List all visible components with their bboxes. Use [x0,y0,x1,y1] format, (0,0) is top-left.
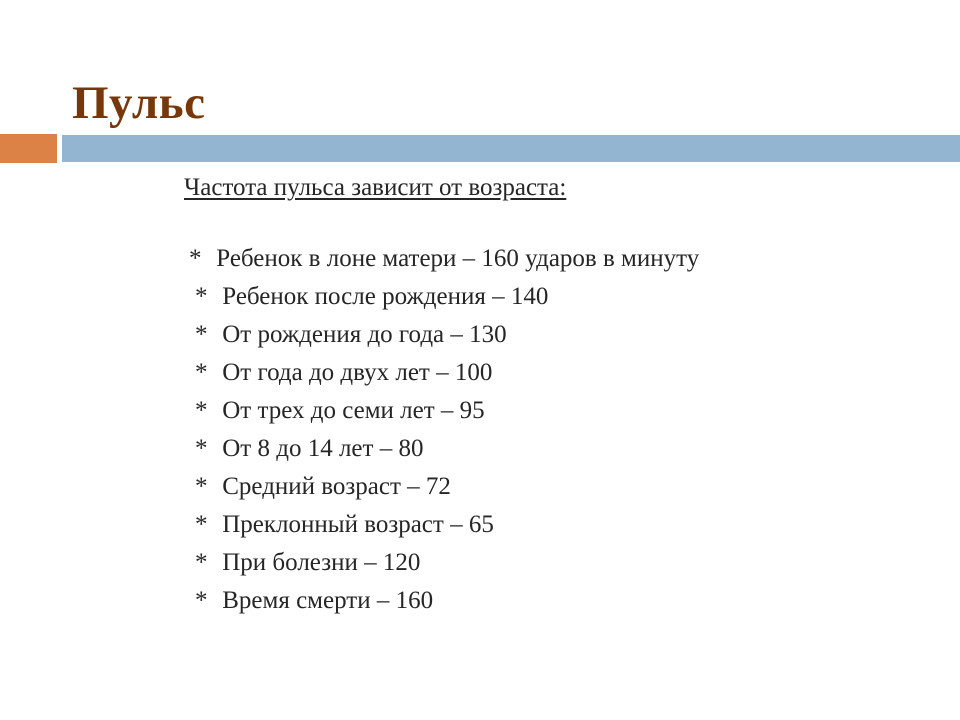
list-item: * При болезни – 120 [0,544,960,582]
bullet-star-icon: * [195,354,208,392]
heading-list-spacer [0,206,960,240]
body-heading: Частота пульса зависит от возраста: [184,170,960,206]
list-item-label: Ребенок в лоне матери – 160 ударов в мин… [216,240,699,278]
accent-rule-decoration [62,135,960,162]
list-item: * От 8 до 14 лет – 80 [0,430,960,468]
list-item: * Средний возраст – 72 [0,468,960,506]
list-item: * От трех до семи лет – 95 [0,392,960,430]
list-item-label: От трех до семи лет – 95 [222,392,484,430]
list-item-label: Средний возраст – 72 [222,468,451,506]
list-item: * Преклонный возраст – 65 [0,506,960,544]
bullet-star-icon: * [195,582,208,620]
list-item-label: От года до двух лет – 100 [222,354,492,392]
slide-canvas: Пульс Частота пульса зависит от возраста… [0,0,960,720]
accent-square-decoration [0,134,57,163]
bullet-star-icon: * [195,316,208,354]
list-item: * Время смерти – 160 [0,582,960,620]
list-item: * Ребенок после рождения – 140 [0,278,960,316]
bullet-star-icon: * [195,430,208,468]
list-item: * Ребенок в лоне матери – 160 ударов в м… [0,240,960,278]
title-divider [0,134,960,163]
list-item-label: От 8 до 14 лет – 80 [222,430,423,468]
list-item-label: Время смерти – 160 [222,582,433,620]
list-item: * От рождения до года – 130 [0,316,960,354]
bullet-star-icon: * [195,468,208,506]
list-item-label: При болезни – 120 [222,544,420,582]
list-item-label: Ребенок после рождения – 140 [222,278,548,316]
pulse-rate-list: * Ребенок в лоне матери – 160 ударов в м… [0,240,960,620]
list-item: * От года до двух лет – 100 [0,354,960,392]
bullet-star-icon: * [195,506,208,544]
list-item-label: От рождения до года – 130 [222,316,506,354]
bullet-star-icon: * [195,278,208,316]
list-item-label: Преклонный возраст – 65 [222,506,494,544]
bullet-star-icon: * [195,544,208,582]
bullet-star-icon: * [189,240,202,278]
bullet-star-icon: * [195,392,208,430]
page-title: Пульс [72,77,205,130]
content-placeholder: Частота пульса зависит от возраста: * Ре… [0,170,960,620]
